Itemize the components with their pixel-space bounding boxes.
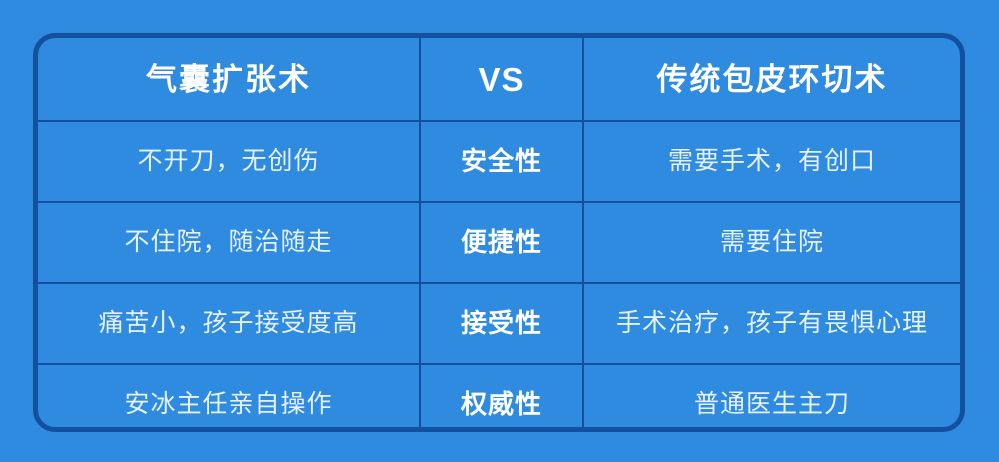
cell-treatment-a-safety: 不开刀，无创伤 [38, 121, 420, 202]
value-treatment-b-convenience: 需要住院 [584, 229, 960, 257]
table-row: 安冰主任亲自操作 权威性 普通医生主刀 [38, 364, 960, 432]
value-treatment-b-acceptance: 手术治疗，孩子有畏惧心理 [584, 310, 960, 338]
table-header-row: 气囊扩张术 VS 传统包皮环切术 [38, 38, 960, 121]
table-row: 痛苦小，孩子接受度高 接受性 手术治疗，孩子有畏惧心理 [38, 283, 960, 364]
label-criterion-authority: 权威性 [421, 390, 582, 419]
cell-criterion-convenience: 便捷性 [420, 202, 583, 283]
cell-treatment-b-acceptance: 手术治疗，孩子有畏惧心理 [583, 283, 960, 364]
cell-treatment-a-acceptance: 痛苦小，孩子接受度高 [38, 283, 420, 364]
value-treatment-b-safety: 需要手术，有创口 [584, 148, 960, 176]
value-treatment-a-authority: 安冰主任亲自操作 [38, 391, 419, 419]
cell-criterion-safety: 安全性 [420, 121, 583, 202]
value-treatment-a-convenience: 不住院，随治随走 [38, 229, 419, 257]
value-treatment-a-safety: 不开刀，无创伤 [38, 148, 419, 176]
table-row: 不开刀，无创伤 安全性 需要手术，有创口 [38, 121, 960, 202]
cell-criterion-acceptance: 接受性 [420, 283, 583, 364]
label-criterion-safety: 安全性 [421, 147, 582, 176]
comparison-grid: 气囊扩张术 VS 传统包皮环切术 不开刀，无创伤 安全性 需要手术，有创口 [38, 38, 960, 432]
label-criterion-convenience: 便捷性 [421, 228, 582, 257]
header-label-treatment-b: 传统包皮环切术 [584, 64, 960, 95]
header-cell-versus: VS [420, 38, 583, 121]
cell-treatment-a-convenience: 不住院，随治随走 [38, 202, 420, 283]
header-cell-treatment-b: 传统包皮环切术 [583, 38, 960, 121]
header-label-versus: VS [421, 63, 582, 96]
comparison-table: 气囊扩张术 VS 传统包皮环切术 不开刀，无创伤 安全性 需要手术，有创口 [33, 33, 965, 432]
cell-treatment-b-safety: 需要手术，有创口 [583, 121, 960, 202]
header-cell-treatment-a: 气囊扩张术 [38, 38, 420, 121]
cell-criterion-authority: 权威性 [420, 364, 583, 432]
value-treatment-b-authority: 普通医生主刀 [584, 391, 960, 419]
cell-treatment-b-authority: 普通医生主刀 [583, 364, 960, 432]
table-row: 不住院，随治随走 便捷性 需要住院 [38, 202, 960, 283]
header-label-treatment-a: 气囊扩张术 [38, 64, 419, 95]
cell-treatment-a-authority: 安冰主任亲自操作 [38, 364, 420, 432]
cell-treatment-b-convenience: 需要住院 [583, 202, 960, 283]
value-treatment-a-acceptance: 痛苦小，孩子接受度高 [38, 310, 419, 338]
label-criterion-acceptance: 接受性 [421, 309, 582, 338]
